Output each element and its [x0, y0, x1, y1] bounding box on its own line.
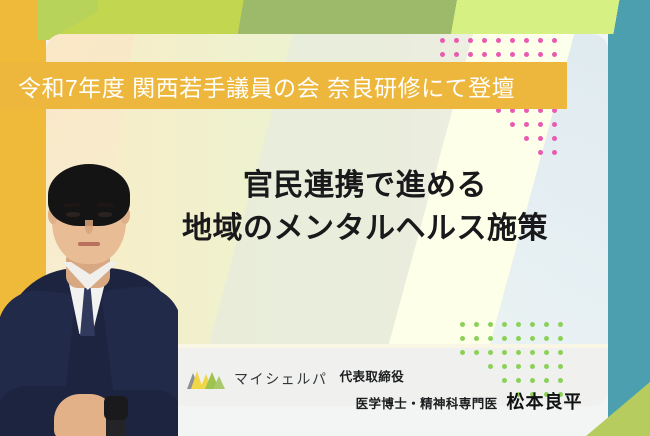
event-ribbon-text: 令和7年度 関西若手議員の会 奈良研修にて登壇	[0, 69, 515, 103]
main-title: 官民連携で進める 地域のメンタルヘルス施策	[130, 165, 600, 250]
brand-name: マイシェルパ	[234, 369, 328, 389]
frame-right-border	[608, 0, 650, 436]
person-role: 代表取締役	[340, 366, 583, 385]
signature-block: マイシェルパ 代表取締役 医学博士・精神科専門医 松本良平	[186, 366, 583, 414]
person-name: 松本良平	[507, 388, 583, 414]
person-credentials: 医学博士・精神科専門医	[356, 393, 498, 412]
signature-credentials-row: 医学博士・精神科専門医 松本良平	[356, 388, 583, 414]
promo-banner-image: 官民連携で進める 地域のメンタルヘルス施策 令和7年度 関西若手議員の会 奈良研…	[0, 0, 650, 436]
three-mountains-icon	[186, 369, 226, 389]
portrait-nose	[85, 220, 93, 234]
main-title-line-2: 地域のメンタルヘルス施策	[130, 208, 600, 251]
portrait-photo	[0, 150, 178, 436]
portrait-mouth	[78, 242, 100, 246]
portrait-smartwatch	[104, 396, 128, 420]
portrait-eye-left	[66, 212, 80, 217]
main-title-line-1: 官民連携で進める	[130, 165, 600, 208]
signature-text-group: 代表取締役 医学博士・精神科専門医 松本良平	[340, 366, 583, 414]
event-ribbon: 令和7年度 関西若手議員の会 奈良研修にて登壇	[0, 62, 567, 109]
portrait-eye-right	[98, 212, 112, 217]
